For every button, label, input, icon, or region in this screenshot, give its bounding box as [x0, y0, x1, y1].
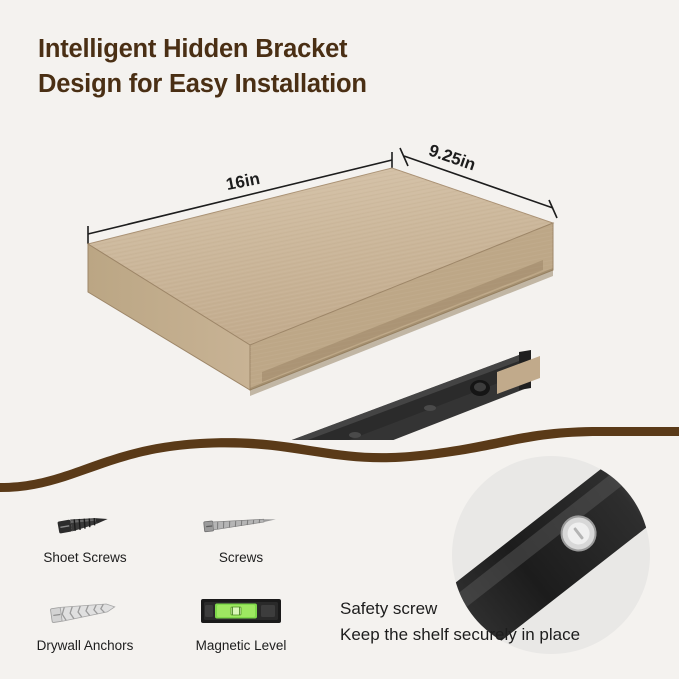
- bracket-hole-2-inner: [474, 383, 486, 392]
- hardware-label: Drywall Anchors: [16, 638, 154, 653]
- anchor-icon-svg: [45, 591, 125, 631]
- product-photo: 16in 9.25in: [0, 120, 679, 440]
- long-screw-icon: [172, 500, 310, 546]
- hardware-item-screws: Screws: [172, 500, 310, 565]
- page-title: Intelligent Hidden Bracket Design for Ea…: [38, 32, 598, 102]
- product-infographic: Intelligent Hidden Bracket Design for Ea…: [0, 0, 679, 679]
- safety-caption: Safety screw Keep the shelf securely in …: [340, 596, 580, 648]
- hardware-item-magnetic-level: Magnetic Level: [172, 588, 310, 653]
- level-icon: [172, 588, 310, 634]
- level-icon-svg: [193, 591, 289, 631]
- headline-line-2: Design for Easy Installation: [38, 67, 598, 102]
- hardware-label: Magnetic Level: [172, 638, 310, 653]
- hardware-label: Shoet Screws: [16, 550, 154, 565]
- long-screw-icon-svg: [198, 503, 284, 543]
- anchor-icon: [16, 588, 154, 634]
- safety-line-2: Keep the shelf securely in place: [340, 622, 580, 648]
- safety-line-1: Safety screw: [340, 596, 580, 622]
- hardware-label: Screws: [172, 550, 310, 565]
- screw-icon-svg: [50, 503, 120, 543]
- screw-icon: [16, 500, 154, 546]
- hardware-item-shoet-screws: Shoet Screws: [16, 500, 154, 565]
- headline-line-1: Intelligent Hidden Bracket: [38, 32, 598, 67]
- shelf-illustration: [0, 120, 679, 440]
- hardware-item-drywall-anchors: Drywall Anchors: [16, 588, 154, 653]
